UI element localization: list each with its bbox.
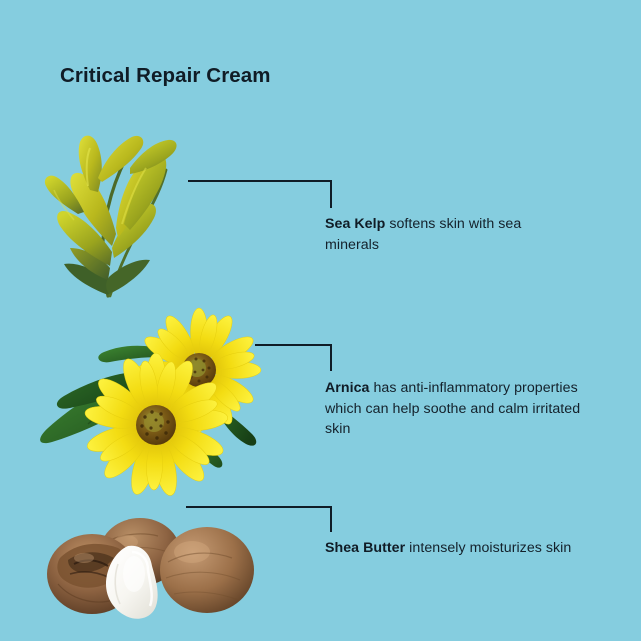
ingredient-description-sea-kelp: Sea Kelp softens skin with sea minerals <box>325 214 575 255</box>
arnica-flower-photo <box>18 310 268 480</box>
connector-line-sea-kelp-vertical <box>330 180 332 208</box>
shea-butter-photo <box>40 512 265 627</box>
ingredient-description-shea-butter: Shea Butter intensely moisturizes skin <box>325 538 625 559</box>
connector-line-shea-butter-vertical <box>330 506 332 532</box>
connector-line-shea-butter-horizontal <box>186 506 332 508</box>
connector-line-sea-kelp-horizontal <box>188 180 332 182</box>
sea-kelp-photo <box>38 128 188 303</box>
ingredient-name-sea-kelp: Sea Kelp <box>325 216 385 232</box>
ingredient-name-arnica: Arnica <box>325 380 369 396</box>
connector-line-arnica-horizontal <box>255 344 332 346</box>
page-title: Critical Repair Cream <box>60 64 271 88</box>
ingredient-name-shea-butter: Shea Butter <box>325 540 405 556</box>
ingredient-text-shea-butter: intensely moisturizes skin <box>405 540 571 556</box>
infographic-canvas: Critical Repair Cream <box>0 0 641 641</box>
connector-line-arnica-vertical <box>330 344 332 371</box>
ingredient-description-arnica: Arnica has anti-inflammatory properties … <box>325 378 583 440</box>
